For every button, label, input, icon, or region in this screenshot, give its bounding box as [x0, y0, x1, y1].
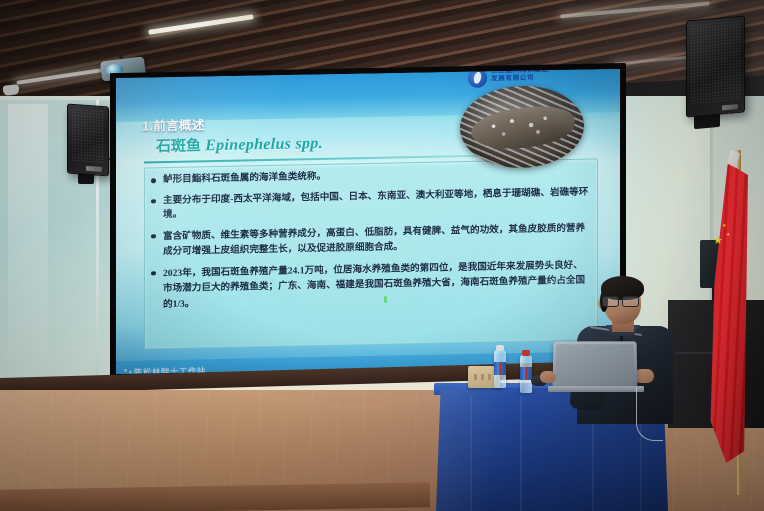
bottle-cap	[522, 350, 530, 356]
glass-reflection	[8, 104, 48, 384]
bottle-cap	[496, 345, 504, 351]
water-bottle	[520, 355, 532, 393]
slide-section-title: 1.前言概述	[142, 114, 205, 134]
wall-speaker-left	[67, 104, 109, 177]
screen-status-led	[384, 296, 387, 303]
slide-surface: 1.前言概述 石斑鱼 Epinephelus spp. 鲈形目鮨科石斑鱼属的海洋…	[116, 69, 620, 374]
photo-highlight	[460, 85, 584, 169]
logo-fish-icon	[468, 69, 487, 88]
laptop-lid	[553, 341, 638, 388]
footer-dots-icon	[124, 369, 132, 374]
slide-heading-chinese: 石斑鱼	[156, 137, 201, 155]
presenter-left-hand	[540, 371, 556, 383]
slide-heading-latin: Epinephelus spp.	[205, 135, 323, 154]
laptop-power-cable	[636, 388, 663, 441]
logo-line-3: SANYA YAZHOU BAY AGRICULTURE AND FISHERY…	[491, 82, 590, 89]
flag-star-icon: ★	[713, 237, 723, 246]
list-item: 富含矿物质、维生素等多种营养成分，高蛋白、低脂肪，具有健脾、益气的功效，其鱼皮胶…	[150, 220, 590, 260]
grouper-fish-photo	[460, 85, 584, 169]
wall-speaker-right	[686, 15, 745, 117]
logo-text: 三亚崖州湾农渔业 发展有限公司 SANYA YAZHOU BAY AGRICUL…	[491, 69, 590, 88]
speaker-grille	[72, 109, 104, 163]
speaker-badge	[86, 166, 102, 172]
list-item: 2023年，我国石斑鱼养殖产量24.1万吨，位居海水养殖鱼类的第四位，是我国近年…	[150, 257, 590, 312]
speaker-grille	[691, 21, 740, 104]
eyeglasses-icon	[601, 296, 641, 305]
bottle-label	[520, 367, 532, 380]
projection-screen: 1.前言概述 石斑鱼 Epinephelus spp. 鲈形目鮨科石斑鱼属的海洋…	[116, 69, 620, 374]
bottle-label	[494, 362, 506, 375]
conference-room-scene: 1.前言概述 石斑鱼 Epinephelus spp. 鲈形目鮨科石斑鱼属的海洋…	[0, 0, 764, 511]
flag-star-icon: ★	[722, 222, 726, 231]
slide-bullet-list: 鲈形目鮨科石斑鱼属的海洋鱼类统称。 主要分布于印度-西太平洋海域，包括中国、日本…	[150, 165, 590, 319]
flag-star-icon: ★	[726, 231, 730, 240]
list-item: 主要分布于印度-西太平洋海域，包括中国、日本、东南亚、澳大利亚等地，栖息于珊瑚礁…	[150, 185, 590, 223]
water-bottle	[494, 350, 506, 388]
company-logo: 三亚崖州湾农渔业 发展有限公司 SANYA YAZHOU BAY AGRICUL…	[468, 69, 590, 90]
laptop-base[interactable]	[548, 386, 644, 392]
speaker-badge	[722, 104, 738, 110]
slide-heading: 石斑鱼 Epinephelus spp.	[156, 132, 323, 156]
